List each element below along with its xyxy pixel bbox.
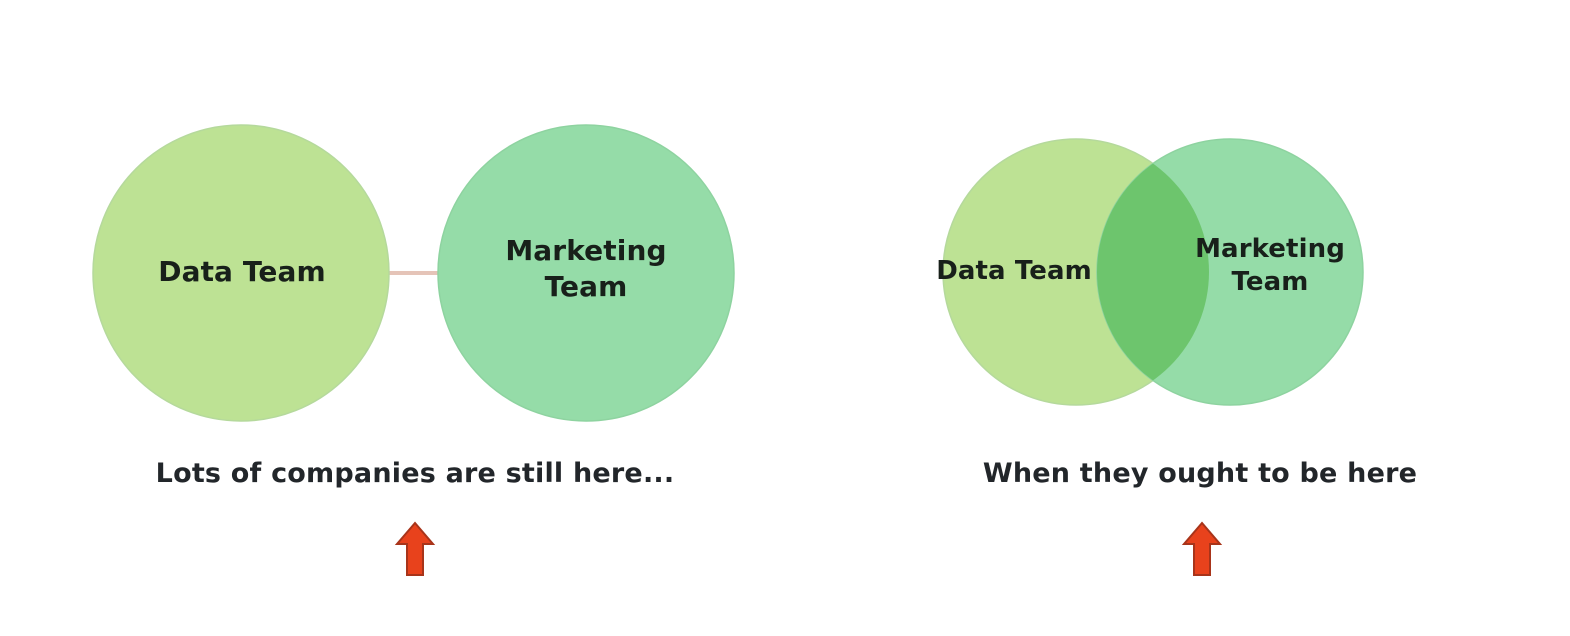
- panel-overlapping-teams: Data Team Marketing Team When they ought…: [830, 0, 1570, 636]
- circle-data-team[interactable]: [93, 125, 389, 421]
- panel-separate-teams: Data Team Marketing Team Lots of compani…: [0, 0, 830, 636]
- up-arrow-icon: [394, 520, 436, 578]
- diagram-canvas: Data Team Marketing Team Lots of compani…: [0, 0, 1570, 636]
- caption-overlapping: When they ought to be here: [830, 458, 1570, 489]
- arrow-container-right: [830, 520, 1570, 590]
- venn-overlapping: Data Team Marketing Team: [830, 0, 1570, 430]
- circle-marketing-team[interactable]: [438, 125, 734, 421]
- caption-separate: Lots of companies are still here...: [0, 458, 830, 489]
- venn-separate-svg: [0, 0, 830, 430]
- up-arrow-icon: [1181, 520, 1223, 578]
- arrow-container-left: [0, 520, 830, 590]
- venn-overlapping-svg: [830, 0, 1570, 430]
- venn-separate: Data Team Marketing Team: [0, 0, 830, 430]
